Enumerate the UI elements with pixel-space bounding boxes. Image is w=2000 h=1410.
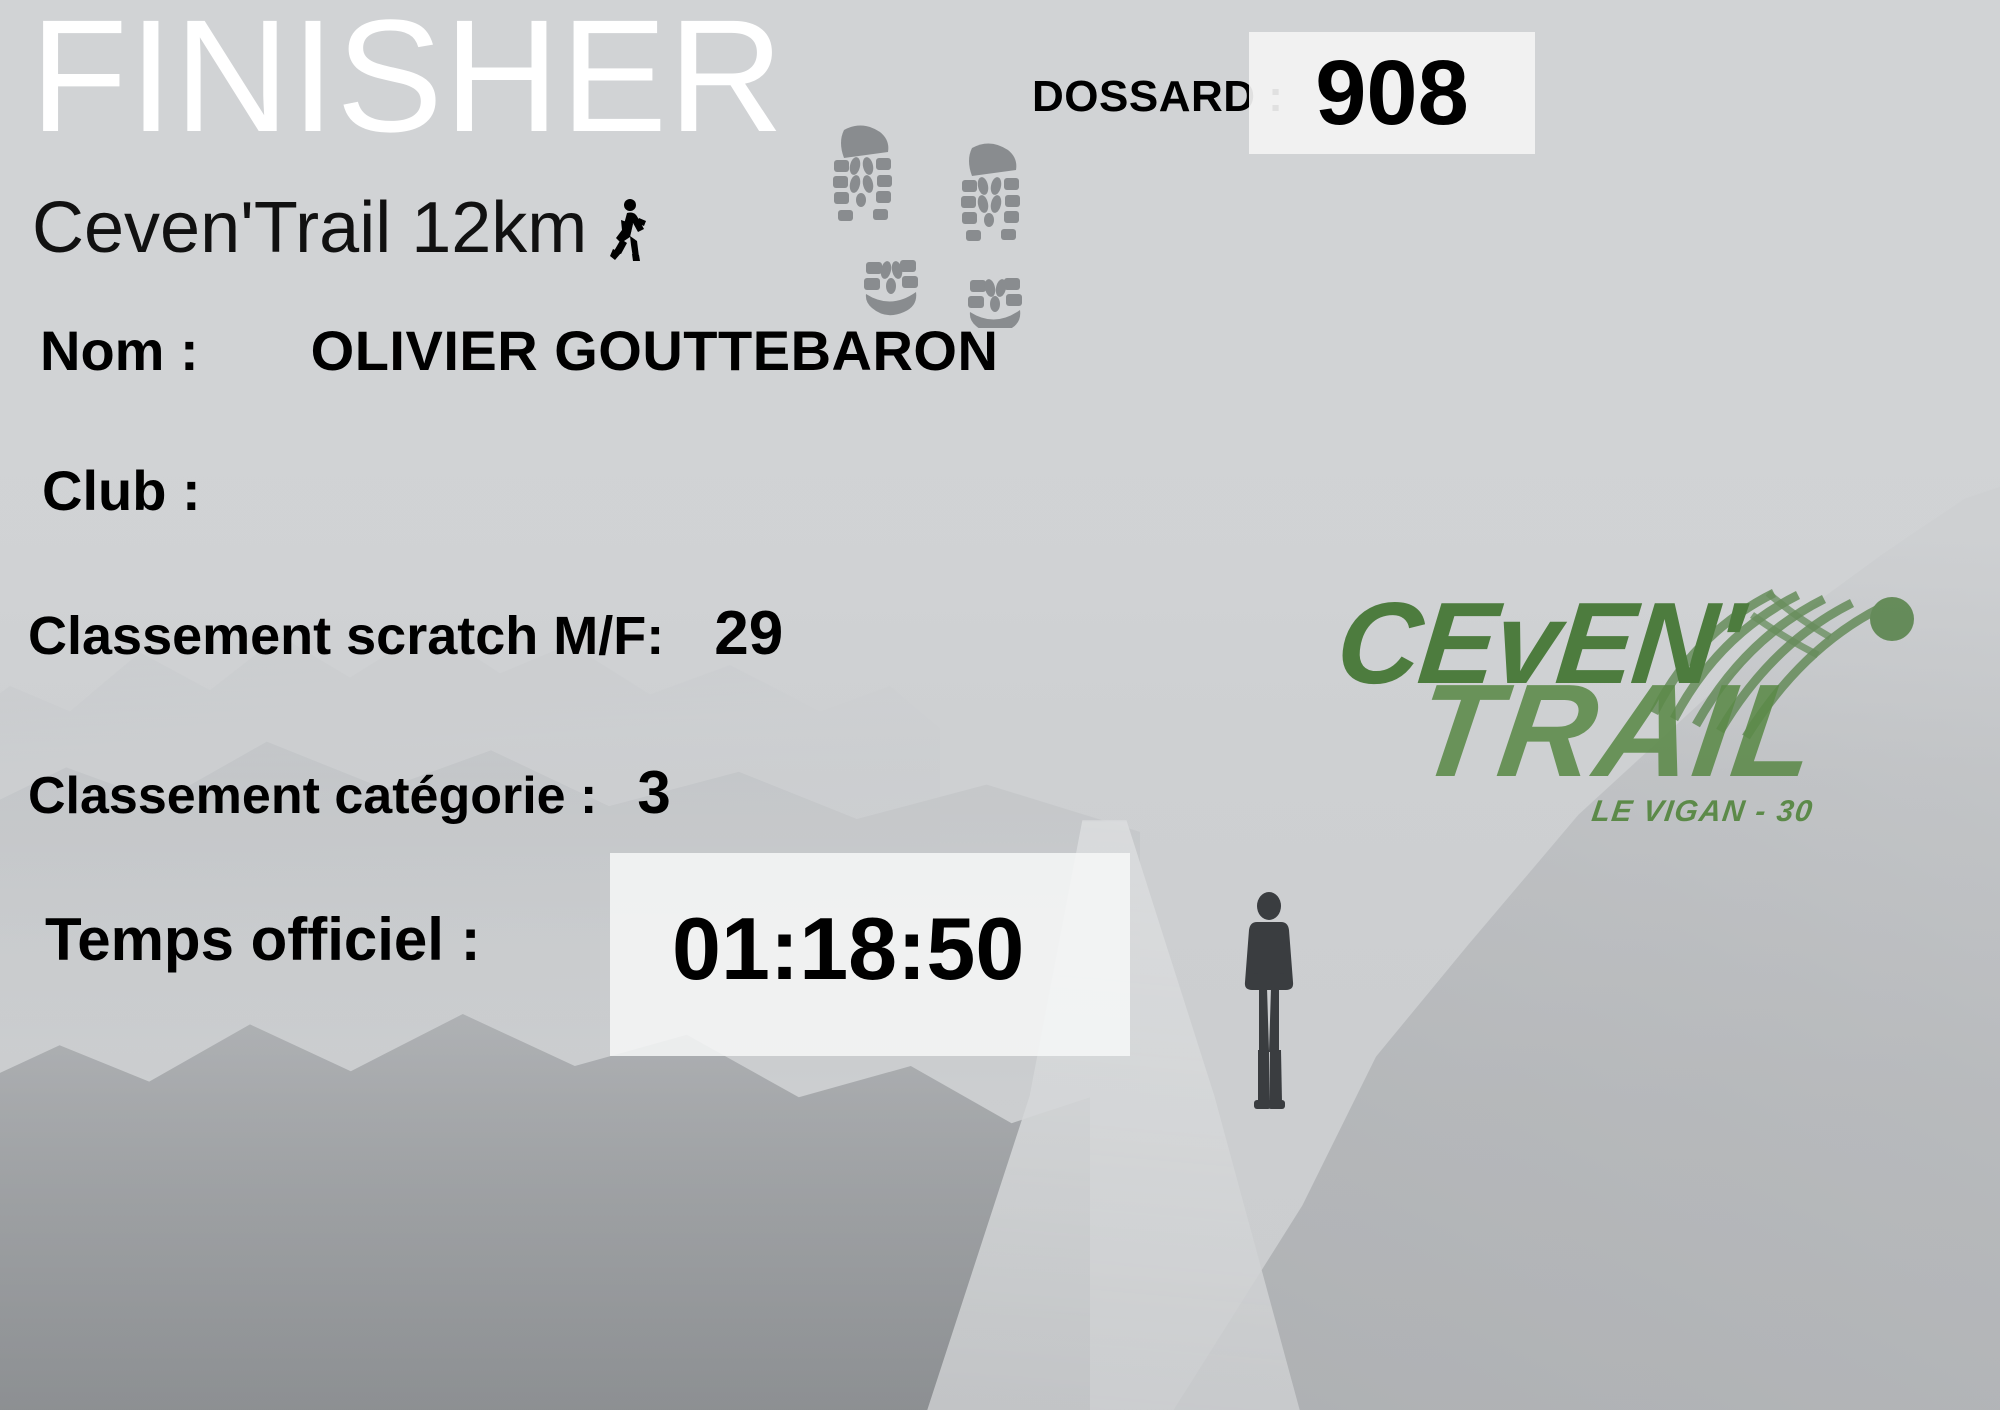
official-time-row: Temps officiel : (45, 905, 481, 974)
scratch-ranking-row: Classement scratch M/F: 29 (28, 598, 783, 669)
scratch-ranking-label: Classement scratch M/F: (28, 605, 664, 667)
category-ranking-value: 3 (637, 758, 670, 827)
logo-subtitle: LE VIGAN - 30 (1590, 795, 1816, 829)
club-label: Club : (42, 458, 201, 523)
official-time-value: 01:18:50 (672, 905, 1024, 993)
club-row: Club : (42, 458, 241, 523)
name-label: Nom : (40, 318, 199, 383)
official-time-label: Temps officiel : (45, 905, 481, 974)
event-logo: CEvEN' TRAIL LE VIGAN - 30 (1330, 585, 1970, 805)
name-value: OLIVIER GOUTTEBARON (311, 318, 999, 383)
certificate-content: FINISHER Ceven'Trail 12km DOSSARD : 9 (0, 0, 2000, 1410)
race-name: Ceven'Trail 12km (32, 192, 649, 264)
finisher-certificate: FINISHER Ceven'Trail 12km DOSSARD : 9 (0, 0, 2000, 1410)
name-row: Nom : OLIVIER GOUTTEBARON (40, 318, 998, 383)
category-ranking-label: Classement catégorie : (28, 766, 597, 826)
running-man-icon (597, 198, 649, 262)
bib-number-value: 908 (1315, 47, 1469, 139)
race-name-label: Ceven'Trail 12km (32, 192, 587, 264)
logo-line2: TRAIL (1409, 665, 1826, 797)
bib-label: DOSSARD : (1032, 72, 1283, 122)
category-ranking-row: Classement catégorie : 3 (28, 758, 671, 827)
bib-number-panel: 908 (1249, 32, 1535, 154)
shoe-footprints-icon (812, 118, 1072, 328)
page-title: FINISHER (30, 0, 785, 156)
scratch-ranking-value: 29 (714, 598, 783, 669)
